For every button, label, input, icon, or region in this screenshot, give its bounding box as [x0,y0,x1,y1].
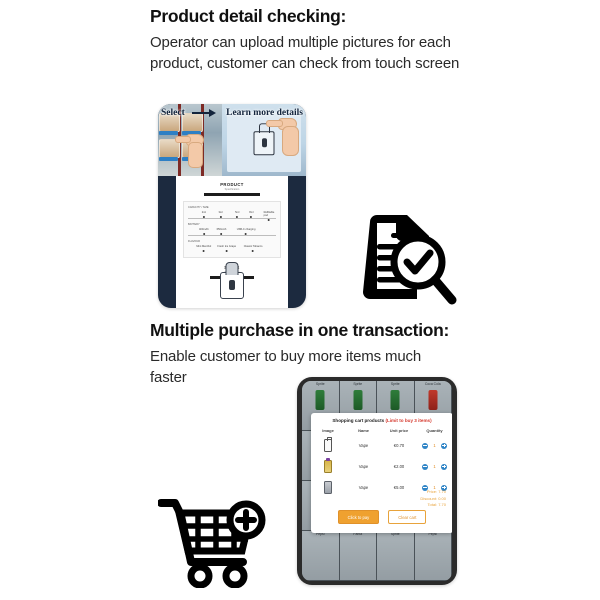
spec-box: CAPACITY / SIZE 2ml 3ml 5ml 8ml Refillab… [183,201,281,258]
spec-point: Classic Tobacco [244,245,263,248]
minus-icon[interactable] [422,464,428,470]
spec-caption: FLAVOUR [188,240,276,243]
spec-point: 400mAh [199,228,209,231]
plus-icon[interactable] [441,464,447,470]
spec-row: FLAVOUR Mint Menthol Fresh Ice Grape Cla… [188,240,276,252]
vape-product-icon [254,131,275,155]
photo-touch-screen [222,104,306,176]
vending-slot[interactable]: Pepsi [302,531,340,581]
quantity-stepper[interactable]: 1 [416,464,452,470]
cart-items-table: Image Name Unit price Quantity Vape €0.7… [311,426,452,498]
cart-actions: Click to pay Clear cart [311,510,452,524]
spec-point: 2ml [202,211,206,214]
spec-point: 650mAh [217,228,227,231]
cart-item-thumb [311,435,345,456]
total-discount: Discount: 0.00 [420,496,446,503]
heading-underline [204,193,260,196]
shopping-cart-dialog: Shopping cart products (Limit to buy 3 i… [311,413,452,533]
cart-totals: Price: 7.70 Discount: 0.00 Total: 7.70 [420,489,446,509]
table-row: Vape €0.70 1 [311,435,452,456]
section-product-detail: Product detail checking: Operator can up… [150,6,460,74]
product-detail-page: PRODUCT Specification CAPACITY / SIZE 2m… [176,176,288,308]
cart-item-name: Vape [345,477,382,498]
quantity-stepper[interactable]: 1 [416,443,452,449]
cart-item-name: Vape [345,435,382,456]
spec-caption: BATTERY [188,223,276,226]
column-header-quantity: Quantity [416,426,452,435]
slot-label: Sprite [377,382,414,386]
product-heading-group: PRODUCT Specification [204,182,260,196]
section-1-title: Product detail checking: [150,6,460,28]
spec-point: Refillable pod [264,211,275,217]
photo-strip: Select Learn more details [158,104,306,176]
product-heading: PRODUCT [204,182,260,187]
spec-point: USB-C charging [237,228,256,231]
vape-thumb-icon [324,439,332,452]
spec-point: Fresh Ice Grape [217,245,236,248]
cart-title-text: Shopping cart products [332,418,384,423]
photo-vending-machine [158,104,222,176]
cart-limit-note: (Limit to buy 3 items) [385,418,431,423]
vape-product-image [220,272,244,299]
cart-item-price: €0.70 [382,435,416,456]
document-magnifier-check-icon [348,214,458,312]
clear-cart-button[interactable]: Clear cart [388,510,426,524]
column-header-name: Name [345,426,382,435]
table-header-row: Image Name Unit price Quantity [311,426,452,435]
total-amount: Total: 7.70 [420,502,446,509]
cart-item-name: Vape [345,456,382,477]
quantity-value: 1 [432,464,437,469]
spec-caption: CAPACITY / SIZE [188,206,276,209]
table-row: Vape €2.00 1 [311,456,452,477]
cart-item-thumb [311,477,345,498]
plus-icon[interactable] [441,443,447,449]
cart-plus-icon [158,494,266,588]
spec-point: 8ml [249,211,253,214]
spec-point: 5ml [235,211,239,214]
cart-item-thumb [311,456,345,477]
vending-machine-background: Sprite Sprite Sprite Coca Cola [302,381,452,581]
column-header-unit-price: Unit price [382,426,416,435]
quantity-value: 1 [432,443,437,448]
spec-row: BATTERY 400mAh 650mAh USB-C charging [188,223,276,236]
total-price: Price: 7.70 [420,489,446,496]
cart-item-price: €5.00 [382,477,416,498]
tablet-product-detail: Select Learn more details PRODUCT Specif… [158,104,306,308]
slot-label: Sprite [302,382,339,386]
cart-dialog-title: Shopping cart products (Limit to buy 3 i… [311,413,452,423]
minus-icon[interactable] [422,443,428,449]
section-2-title: Multiple purchase in one transaction: [150,320,460,342]
tablet-vending-machine: Sprite Sprite Sprite Coca Cola [297,377,457,585]
vending-slot[interactable]: Pepsi [415,531,453,581]
spec-point: 3ml [218,211,222,214]
spec-row: CAPACITY / SIZE 2ml 3ml 5ml 8ml Refillab… [188,206,276,219]
product-subheading: Specification [204,188,260,191]
cart-item-price: €2.00 [382,456,416,477]
column-header-image: Image [311,426,345,435]
spec-point: Mint Menthol [196,245,211,248]
vending-slot[interactable]: Sprite [377,531,415,581]
slot-label: Coca Cola [415,382,452,386]
vending-slot[interactable]: Fanta [340,531,378,581]
vape-thumb-icon [324,460,332,473]
slot-label: Sprite [340,382,377,386]
section-1-body: Operator can upload multiple pictures fo… [150,32,460,75]
click-to-pay-button[interactable]: Click to pay [338,510,380,524]
infographic-page: Product detail checking: Operator can up… [0,0,600,600]
vape-thumb-icon [324,481,332,494]
